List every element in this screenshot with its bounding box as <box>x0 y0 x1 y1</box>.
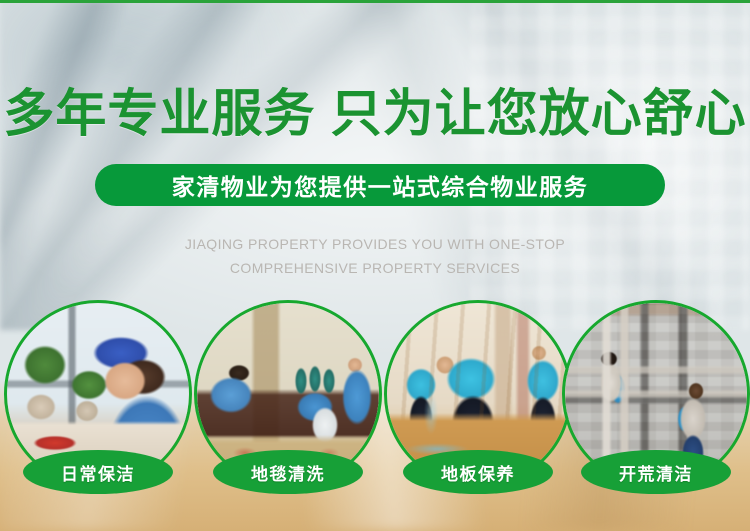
service-label-text: 开荒清洁 <box>619 460 693 485</box>
english-subtitle-line-1: JIAQING PROPERTY PROVIDES YOU WITH ONE-S… <box>0 232 750 256</box>
service-label-text: 地毯清洗 <box>251 460 325 485</box>
tagline-text: 家清物业为您提供一站式综合物业服务 <box>172 168 589 202</box>
service-label-daily-cleaning: 日常保洁 <box>23 450 173 494</box>
service-label-carpet-washing: 地毯清洗 <box>213 450 363 494</box>
service-label-text: 日常保洁 <box>61 460 135 485</box>
service-circles-row: 日常保洁 地毯清洗 地板保养 <box>0 300 750 495</box>
service-item-daily-cleaning[interactable]: 日常保洁 <box>4 300 192 488</box>
service-item-carpet-washing[interactable]: 地毯清洗 <box>194 300 382 488</box>
service-banner: 多年专业服务 只为让您放心舒心 家清物业为您提供一站式综合物业服务 JIAQIN… <box>0 0 750 531</box>
service-item-deep-cleaning[interactable]: 开荒清洁 <box>562 300 750 488</box>
english-subtitle-line-2: COMPREHENSIVE PROPERTY SERVICES <box>0 256 750 280</box>
top-accent-strip <box>0 0 750 3</box>
tagline-pill: 家清物业为您提供一站式综合物业服务 <box>95 164 665 206</box>
service-label-text: 地板保养 <box>441 460 515 485</box>
service-label-floor-maintenance: 地板保养 <box>403 450 553 494</box>
service-label-deep-cleaning: 开荒清洁 <box>581 450 731 494</box>
page-title: 多年专业服务 只为让您放心舒心 <box>0 86 750 142</box>
english-subtitle: JIAQING PROPERTY PROVIDES YOU WITH ONE-S… <box>0 232 750 280</box>
service-item-floor-maintenance[interactable]: 地板保养 <box>384 300 572 488</box>
